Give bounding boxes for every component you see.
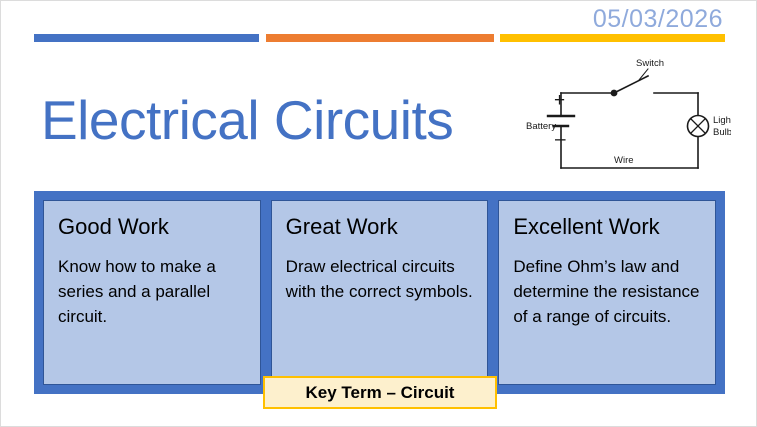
switch-pivot-dot <box>611 90 618 97</box>
circuit-label-bulb-line1: Light <box>713 115 731 126</box>
objective-text: Know how to make a series and a parallel… <box>58 254 246 329</box>
circuit-diagram: Switch Battery Light Bulb Wire + – <box>526 56 731 181</box>
objective-text: Draw electrical circuits with the correc… <box>286 254 474 304</box>
circuit-label-wire: Wire <box>614 155 634 166</box>
slide-canvas: 05/03/2026 Electrical Circuits <box>0 0 757 427</box>
circuit-label-battery: Battery <box>526 121 556 132</box>
circuit-label-switch: Switch <box>636 58 664 69</box>
battery-minus-sign: – <box>555 129 566 150</box>
slide-date: 05/03/2026 <box>593 5 723 34</box>
accent-bar-yellow <box>500 34 725 42</box>
objective-card-excellent-work: Excellent Work Define Ohm’s law and dete… <box>498 200 716 385</box>
objective-title: Good Work <box>58 214 246 240</box>
accent-bar-orange <box>266 34 494 42</box>
objective-card-great-work: Great Work Draw electrical circuits with… <box>271 200 489 385</box>
key-term-callout: Key Term – Circuit <box>263 376 497 409</box>
objective-title: Great Work <box>286 214 474 240</box>
objective-text: Define Ohm’s law and determine the resis… <box>513 254 701 329</box>
accent-bar-blue <box>34 34 259 42</box>
circuit-label-bulb-line2: Bulb <box>713 127 731 138</box>
objectives-panel: Good Work Know how to make a series and … <box>34 191 725 394</box>
objective-card-good-work: Good Work Know how to make a series and … <box>43 200 261 385</box>
slide-title: Electrical Circuits <box>41 89 453 151</box>
objective-title: Excellent Work <box>513 214 701 240</box>
battery-plus-sign: + <box>554 90 565 111</box>
